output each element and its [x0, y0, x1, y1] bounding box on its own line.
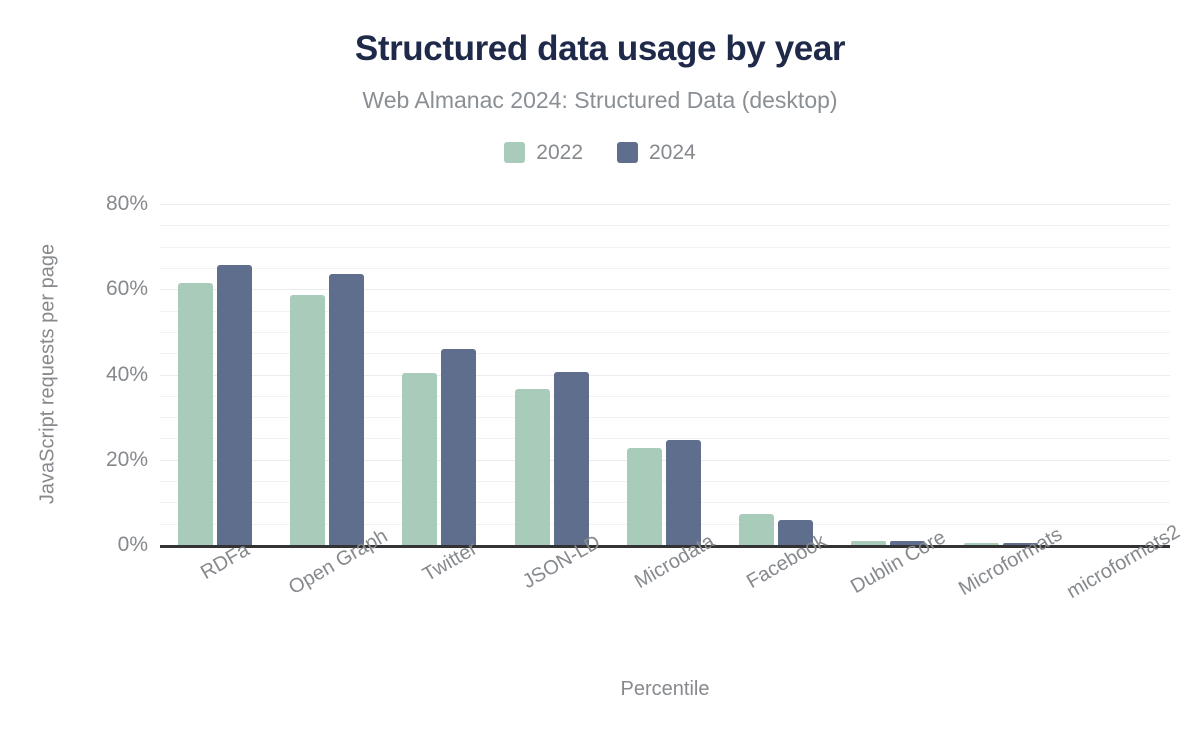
y-tick-label: 80% — [28, 192, 148, 216]
bars-layer — [160, 204, 1170, 545]
x-axis-title: Percentile — [160, 678, 1170, 701]
legend-item-2024[interactable]: 2024 — [617, 142, 696, 163]
bar-rdfa-2022[interactable] — [178, 283, 213, 545]
bar-microdata-2022[interactable] — [627, 448, 662, 545]
x-axis-ticks: RDFaOpen GraphTwitterJSON-LDMicrodataFac… — [160, 552, 1170, 662]
bar-facebook-2022[interactable] — [739, 514, 774, 545]
bar-json-ld-2024[interactable] — [554, 372, 589, 545]
bar-rdfa-2024[interactable] — [217, 265, 252, 545]
bar-open-graph-2024[interactable] — [329, 274, 364, 545]
chart-container: Structured data usage by year Web Almana… — [0, 0, 1200, 742]
legend-label-2024: 2024 — [649, 142, 696, 163]
bar-microdata-2024[interactable] — [666, 440, 701, 545]
y-axis-title: JavaScript requests per page — [37, 244, 60, 504]
bar-twitter-2022[interactable] — [402, 373, 437, 545]
bar-twitter-2024[interactable] — [441, 349, 476, 546]
legend-swatch-2024 — [617, 142, 638, 163]
legend-item-2022[interactable]: 2022 — [504, 142, 583, 163]
legend-swatch-2022 — [504, 142, 525, 163]
bar-json-ld-2022[interactable] — [515, 389, 550, 545]
plot-area: 0%20%40%60%80% JavaScript requests per p… — [160, 204, 1170, 545]
chart-title: Structured data usage by year — [0, 30, 1200, 69]
chart-legend: 20222024 — [0, 142, 1200, 163]
bar-open-graph-2022[interactable] — [290, 295, 325, 545]
legend-label-2022: 2022 — [536, 142, 583, 163]
chart-subtitle: Web Almanac 2024: Structured Data (deskt… — [0, 88, 1200, 113]
y-tick-label: 0% — [28, 533, 148, 557]
